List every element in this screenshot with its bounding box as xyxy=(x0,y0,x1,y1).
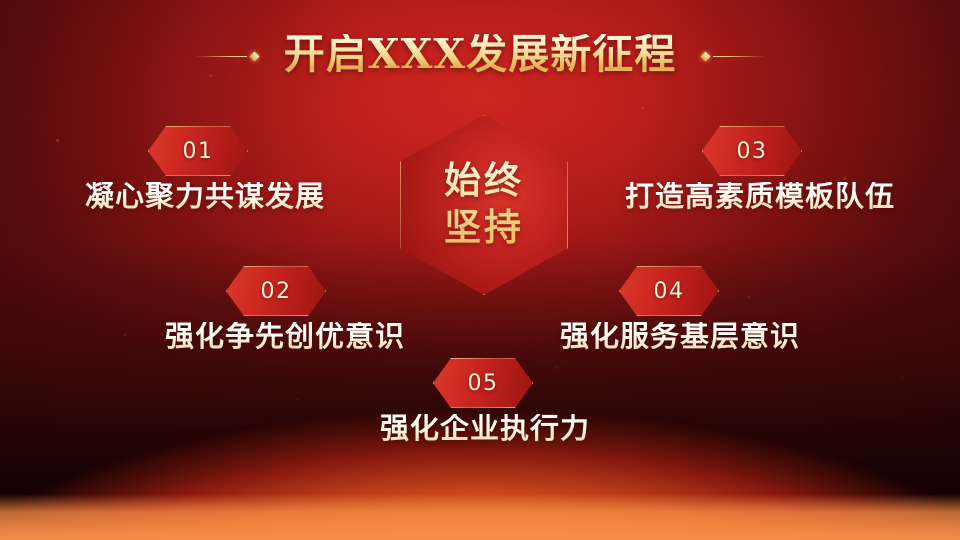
item-label: 强化争先创优意识 xyxy=(140,322,430,354)
badge-number: 05 xyxy=(468,371,499,396)
list-item-02[interactable]: 02 强化争先创优意识 xyxy=(140,266,430,354)
slide-title-row: 开启XXX发展新征程 xyxy=(0,34,960,78)
decoration-line-right-icon xyxy=(713,56,765,57)
list-item-03[interactable]: 03 打造高素质模板队伍 xyxy=(610,126,910,214)
title-decoration-right xyxy=(698,53,765,60)
decoration-diamond-right-icon xyxy=(701,51,711,61)
number-badge-02[interactable]: 02 xyxy=(226,266,326,316)
item-label: 打造高素质模板队伍 xyxy=(610,182,910,214)
list-item-04[interactable]: 04 强化服务基层意识 xyxy=(535,266,825,354)
badge-number: 02 xyxy=(261,279,292,304)
decoration-line-left-icon xyxy=(195,56,247,57)
center-hexagon-label: 始终 坚持 xyxy=(444,158,524,251)
list-item-01[interactable]: 01 凝心聚力共谋发展 xyxy=(60,126,350,214)
center-hexagon[interactable]: 始终 坚持 xyxy=(400,115,568,295)
number-badge-01[interactable]: 01 xyxy=(148,126,248,176)
list-item-05[interactable]: 05 强化企业执行力 xyxy=(355,358,615,446)
number-badge-04[interactable]: 04 xyxy=(619,266,719,316)
badge-number: 03 xyxy=(737,139,768,164)
center-label-line-1: 始终 xyxy=(444,158,524,205)
badge-number: 01 xyxy=(183,139,214,164)
item-label: 强化服务基层意识 xyxy=(535,322,825,354)
badge-number: 04 xyxy=(654,279,685,304)
page-title: 开启XXX发展新征程 xyxy=(284,34,676,78)
bottom-glow-core xyxy=(0,494,960,540)
title-decoration-left xyxy=(195,53,262,60)
number-badge-03[interactable]: 03 xyxy=(702,126,802,176)
item-label: 强化企业执行力 xyxy=(355,414,615,446)
number-badge-05[interactable]: 05 xyxy=(433,358,533,408)
decoration-diamond-left-icon xyxy=(249,51,259,61)
center-label-line-2: 坚持 xyxy=(444,205,524,252)
item-label: 凝心聚力共谋发展 xyxy=(60,182,350,214)
presentation-slide: 开启XXX发展新征程 始终 坚持 01 凝心聚力共谋发展 02 强化争先创优意识 xyxy=(0,0,960,540)
